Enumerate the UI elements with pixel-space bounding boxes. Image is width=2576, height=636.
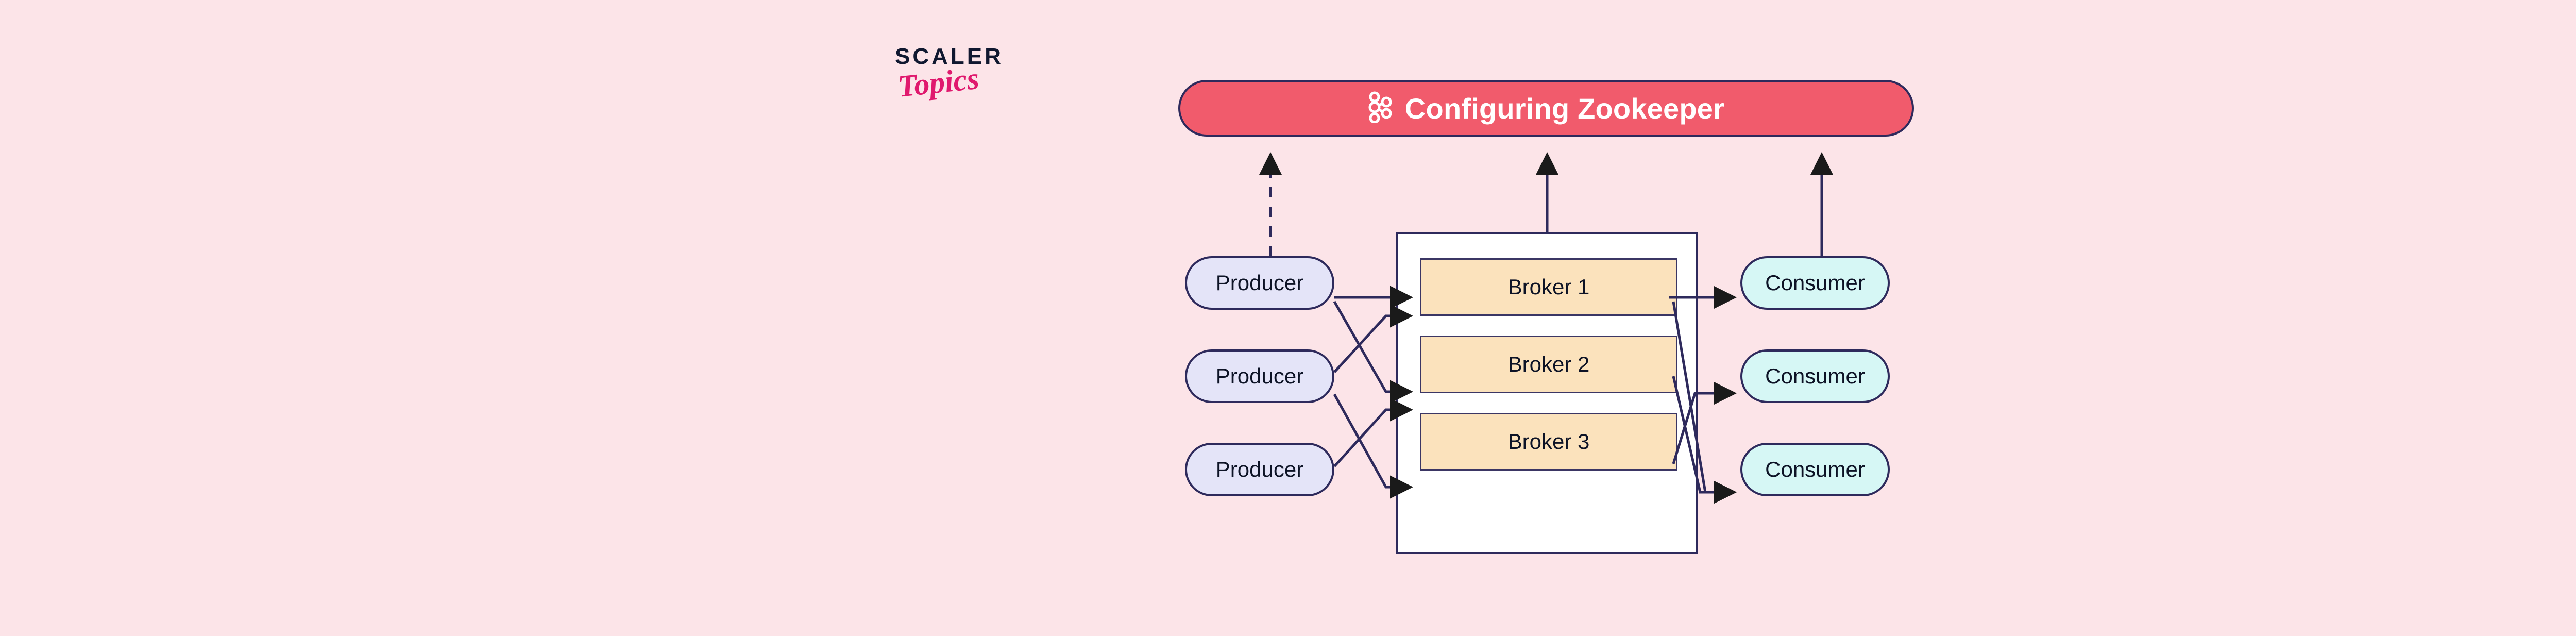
consumer-label: Consumer bbox=[1765, 457, 1865, 482]
kafka-logo-icon bbox=[1368, 91, 1394, 126]
broker-label: Broker 3 bbox=[1508, 429, 1590, 454]
producer-label: Producer bbox=[1216, 457, 1303, 482]
producer-label: Producer bbox=[1216, 364, 1303, 389]
producer-node-2: Producer bbox=[1185, 349, 1334, 403]
consumer-node-2: Consumer bbox=[1740, 349, 1890, 403]
broker-node-3: Broker 3 bbox=[1420, 413, 1677, 471]
broker-label: Broker 2 bbox=[1508, 352, 1590, 377]
broker-node-2: Broker 2 bbox=[1420, 336, 1677, 393]
broker-node-1: Broker 1 bbox=[1420, 258, 1677, 316]
kafka-cluster-container: Broker 1 Broker 2 Broker 3 bbox=[1396, 232, 1698, 554]
producer-node-1: Producer bbox=[1185, 256, 1334, 310]
broker-label: Broker 1 bbox=[1508, 275, 1590, 299]
consumer-node-1: Consumer bbox=[1740, 256, 1890, 310]
producer-label: Producer bbox=[1216, 271, 1303, 295]
page-title: Configuring Zookeeper bbox=[1405, 92, 1724, 125]
consumer-node-3: Consumer bbox=[1740, 443, 1890, 496]
consumer-label: Consumer bbox=[1765, 271, 1865, 295]
diagram-canvas: SCALER Topics Configuri bbox=[0, 0, 2576, 636]
scaler-topics-logo: SCALER Topics bbox=[895, 45, 1034, 120]
page-title-banner: Configuring Zookeeper bbox=[1178, 80, 1914, 137]
consumer-label: Consumer bbox=[1765, 364, 1865, 389]
producer-node-3: Producer bbox=[1185, 443, 1334, 496]
